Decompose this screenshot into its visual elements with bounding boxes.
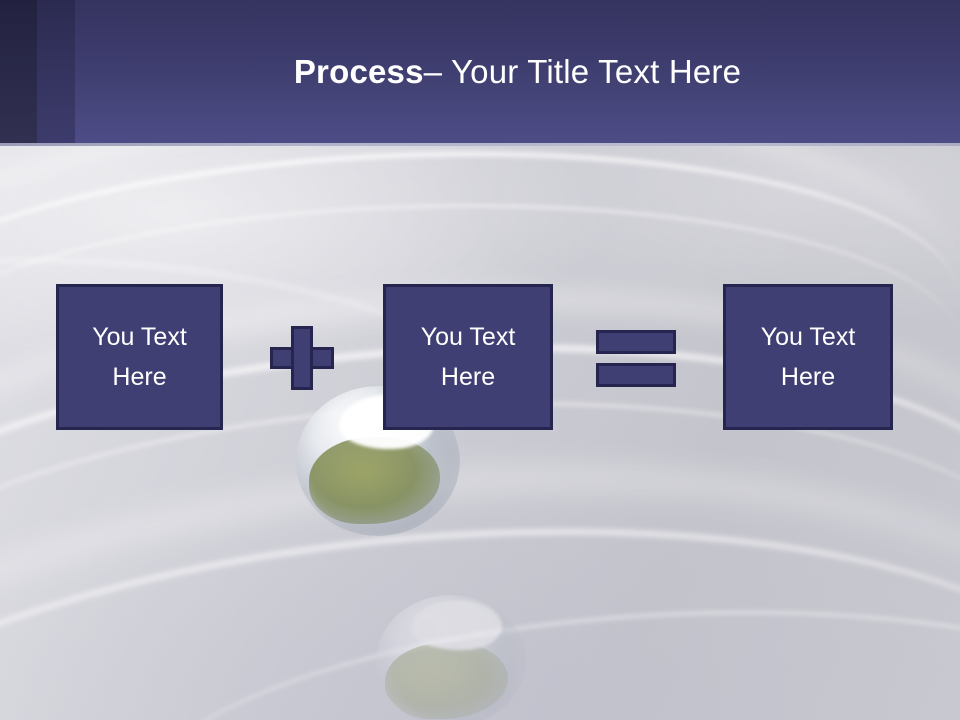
- process-box-1[interactable]: You Text Here: [56, 284, 223, 430]
- slide-title-bar: Process – Your Title Text Here: [0, 0, 960, 143]
- slide-background-image: [0, 143, 960, 720]
- process-box-2-text: You Text Here: [421, 317, 516, 398]
- process-box-1-line2: Here: [92, 357, 187, 398]
- equals-icon: [596, 330, 676, 388]
- process-box-3[interactable]: You Text Here: [723, 284, 893, 430]
- process-box-2-line1: You Text: [421, 317, 516, 358]
- presentation-slide: Process – Your Title Text Here You Text …: [0, 0, 960, 720]
- globe-icon: [376, 595, 526, 720]
- plus-icon: [270, 326, 334, 390]
- process-box-3-text: You Text Here: [761, 317, 856, 398]
- process-box-2[interactable]: You Text Here: [383, 284, 553, 430]
- globe-fade-mask: [376, 595, 526, 720]
- title-accent-band-mid: [37, 0, 75, 143]
- process-box-3-line2: Here: [761, 357, 856, 398]
- title-divider: [0, 143, 960, 146]
- page-title-emphasis: Process: [294, 53, 424, 91]
- equals-bottom-bar: [596, 363, 676, 387]
- process-box-2-line2: Here: [421, 357, 516, 398]
- process-box-1-text: You Text Here: [92, 317, 187, 398]
- equals-top-bar: [596, 330, 676, 354]
- process-box-3-line1: You Text: [761, 317, 856, 358]
- page-title[interactable]: Process – Your Title Text Here: [75, 0, 960, 143]
- title-accent-band-dark: [0, 0, 37, 143]
- process-box-1-line1: You Text: [92, 317, 187, 358]
- page-title-subtext: – Your Title Text Here: [424, 53, 741, 91]
- plus-center-fill: [294, 350, 310, 366]
